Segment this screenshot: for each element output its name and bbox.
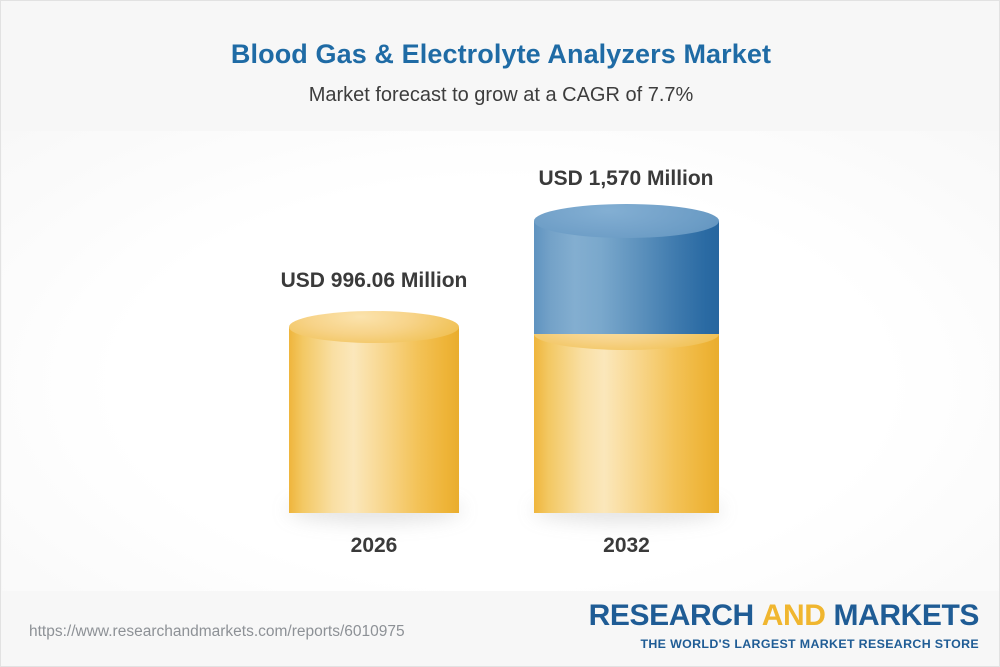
logo-tagline: THE WORLD'S LARGEST MARKET RESEARCH STOR… xyxy=(589,631,979,650)
plot-area xyxy=(2,131,1000,591)
bar-body-2032-yellow xyxy=(534,334,719,513)
bar-top-cap-2026 xyxy=(289,311,459,343)
bar-segment-2026-yellow xyxy=(289,311,459,513)
category-label-2026: 2026 xyxy=(289,534,459,558)
value-label-2026: USD 996.06 Million xyxy=(239,269,509,293)
market-forecast-infographic: Blood Gas & Electrolyte Analyzers Market… xyxy=(0,0,1000,667)
bar-top-cap-2032 xyxy=(534,204,719,238)
bar-2032[interactable] xyxy=(534,204,719,513)
logo-word-research: RESEARCH xyxy=(589,599,754,632)
bar-segment-2032-yellow xyxy=(534,318,719,513)
logo-word-and: AND xyxy=(762,599,826,632)
chart-subtitle: Market forecast to grow at a CAGR of 7.7… xyxy=(1,70,1000,107)
chart-header: Blood Gas & Electrolyte Analyzers Market… xyxy=(1,1,1000,107)
logo-word-markets: MARKETS xyxy=(833,599,979,632)
page-title: Blood Gas & Electrolyte Analyzers Market xyxy=(1,1,1000,70)
category-label-2032: 2032 xyxy=(534,534,719,558)
report-url[interactable]: https://www.researchandmarkets.com/repor… xyxy=(29,623,405,641)
logo-wordmark: RESEARCH AND MARKETS xyxy=(589,601,979,631)
bar-segment-2032-blue xyxy=(534,204,719,334)
research-and-markets-logo[interactable]: RESEARCH AND MARKETS THE WORLD'S LARGEST… xyxy=(589,601,979,650)
bar-body-2026 xyxy=(289,327,459,513)
value-label-2032: USD 1,570 Million xyxy=(491,167,761,191)
bar-2026[interactable] xyxy=(289,311,459,513)
